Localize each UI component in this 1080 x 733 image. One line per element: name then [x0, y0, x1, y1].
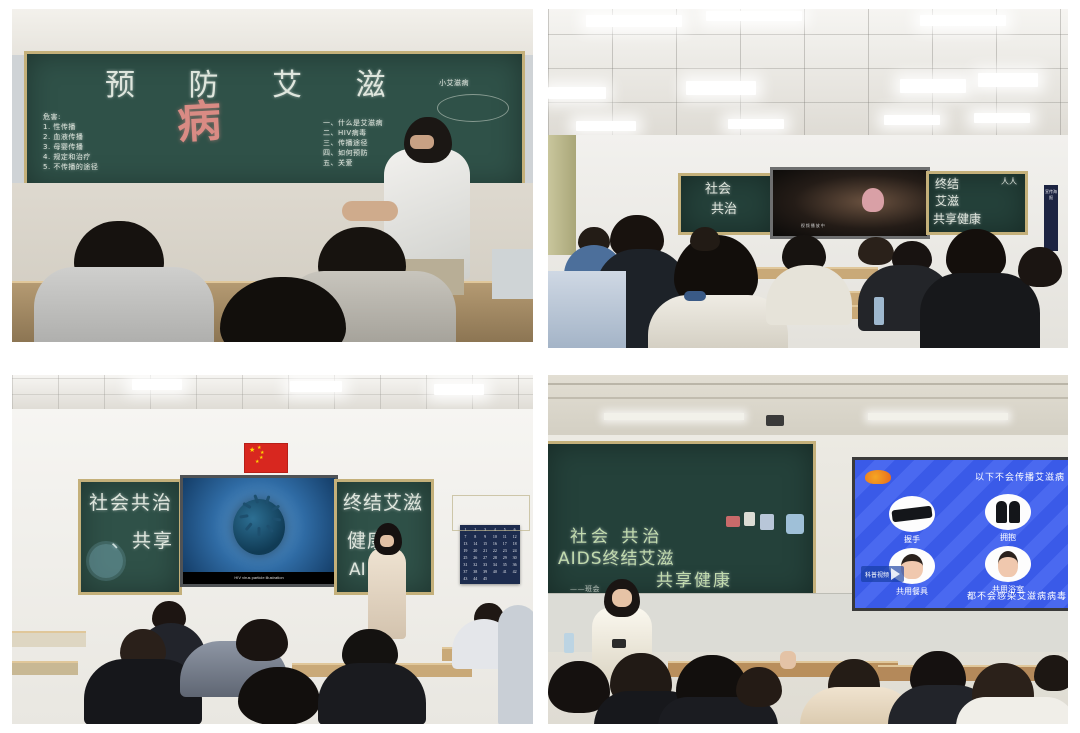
- projector-screen-content: 视频播放中: [773, 170, 927, 236]
- ceiling: [12, 375, 533, 411]
- shared-bathroom-icon: [985, 546, 1031, 582]
- speaker-icon: [766, 415, 784, 426]
- photo-bottom-left[interactable]: ★ ★ ★ ★ ★ 社会共治 、共享: [12, 375, 533, 724]
- tv-caption-text: HIV virus particle illustration: [183, 572, 335, 584]
- desk: [12, 661, 78, 675]
- blackboard-left-line: 社会共治: [89, 488, 173, 515]
- play-badge-label: 科普视频: [865, 570, 889, 579]
- tv-screen[interactable]: HIV virus particle illustration: [180, 475, 338, 587]
- magnet-icon: [726, 516, 740, 527]
- ceiling-pipe: [548, 383, 1068, 385]
- note-line: 三、传播途径: [323, 138, 383, 148]
- blackboard-right-line: 终结: [935, 175, 959, 192]
- pocket-chart-number: 45: [481, 576, 490, 582]
- chalk-cloud-shape: [437, 94, 509, 122]
- blackboard-left-line: 社会: [705, 178, 731, 197]
- note-line: 一、什么是艾滋病: [323, 118, 383, 128]
- pocket-chart-number: 11: [500, 534, 509, 540]
- pocket-chart-number: 42: [510, 569, 519, 575]
- ceiling-light: [728, 119, 784, 129]
- water-bottle: [874, 297, 884, 325]
- blackboard-right: 终结 艾滋 共享健康 人人: [926, 171, 1028, 235]
- video-subtitle: 视频播放中: [801, 223, 826, 229]
- flag-star: ★: [249, 448, 255, 453]
- blackboard-right-side-text: 人人: [1001, 176, 1017, 187]
- pocket-chart-number: 28: [490, 555, 499, 561]
- ceiling-light: [920, 15, 1006, 26]
- pocket-chart-number: 33: [481, 562, 490, 568]
- virus-particle-icon: [233, 499, 285, 555]
- ceiling-light: [974, 113, 1030, 123]
- pocket-chart-number: 21: [481, 548, 490, 554]
- student-head: [690, 227, 720, 251]
- tv-screen-content: HIV virus particle illustration: [183, 478, 335, 584]
- blackboard-overlay-character: 病: [175, 85, 222, 151]
- ceiling: [548, 375, 1068, 437]
- ceiling-light: [884, 115, 940, 125]
- pocket-chart-number: 19: [461, 548, 470, 554]
- slide-item-label: 拥抱: [977, 532, 1039, 543]
- note-line: 危害:: [43, 112, 98, 122]
- pocket-chart-number: 20: [471, 548, 480, 554]
- pocket-chart-number: 41: [500, 569, 509, 575]
- pocket-chart-number: 16: [490, 541, 499, 547]
- pocket-chart-number: 39: [481, 569, 490, 575]
- blackboard-left-notes: 危害: 1. 性传播 2. 血液传播 3. 母婴传播 4. 规定和治疗 5. 不…: [43, 112, 98, 172]
- handshake-icon: [889, 496, 935, 532]
- slide-title: 以下不会传播艾滋病: [975, 470, 1065, 483]
- note-line: 5. 不传播的途径: [43, 162, 98, 172]
- pocket-chart-number: 31: [461, 562, 470, 568]
- student-body: [920, 273, 1040, 348]
- pocket-chart-number: 38: [471, 569, 480, 575]
- student-head: [1034, 655, 1068, 691]
- video-still: [773, 170, 927, 236]
- hair-tie: [684, 291, 706, 301]
- teacher-face: [410, 135, 434, 149]
- slide-item-bathroom: 共用浴室: [977, 546, 1039, 595]
- window-curtain: [548, 135, 576, 255]
- wall-banner-text: 宣传海报: [1044, 185, 1058, 201]
- pocket-chart-number: 18: [510, 541, 519, 547]
- blackboard: 社会 共治 AIDS终结艾滋 共享健康 ——班会: [548, 441, 816, 599]
- blackboard-right-line: AI: [349, 560, 366, 580]
- flag-star: ★: [259, 456, 263, 461]
- ceiling-light: [978, 73, 1038, 87]
- pocket-chart-number: 30: [510, 555, 519, 561]
- pocket-chart-number: 40: [490, 569, 499, 575]
- student-body: [34, 267, 214, 342]
- slide-item-label: 握手: [881, 534, 943, 545]
- blackboard-left: 社会共治 、共享: [78, 479, 182, 595]
- wall-upper: [12, 9, 533, 55]
- photo-bottom-right[interactable]: 社会 共治 AIDS终结艾滋 共享健康 ——班会 以下不会传播艾滋病: [548, 375, 1068, 724]
- pocket-chart-number: 24: [510, 548, 519, 554]
- note-line: 2. 血液传播: [43, 132, 98, 142]
- pocket-chart-number: 8: [471, 534, 480, 540]
- slide-item-hug: 拥抱: [977, 494, 1039, 543]
- magnet-icon: [744, 512, 755, 526]
- pocket-chart-number: 37: [461, 569, 470, 575]
- note-line: 1. 性传播: [43, 122, 98, 132]
- pocket-chart-number: 32: [471, 562, 480, 568]
- pocket-chart-number: 27: [481, 555, 490, 561]
- ceiling-light: [868, 413, 1008, 420]
- projector-screen: 视频播放中: [770, 167, 930, 239]
- blackboard-left-line: 共治: [711, 198, 737, 217]
- presenter-phone: [612, 639, 626, 648]
- numbered-pocket-chart: 1234567891011121314151617181920212223242…: [460, 525, 520, 584]
- student-body: [318, 663, 426, 724]
- ceiling-pipe: [548, 397, 1068, 399]
- blackboard-left-line: 、共享: [111, 526, 174, 553]
- ceiling-light: [706, 11, 802, 21]
- slide-item-label: 共用餐具: [881, 586, 943, 597]
- student-head: [236, 619, 288, 661]
- pocket-chart-number: 34: [490, 562, 499, 568]
- slide-content: 以下不会传播艾滋病 握手 拥抱: [855, 460, 1068, 608]
- pocket-chart-number: 14: [471, 541, 480, 547]
- pocket-chart-number: 26: [471, 555, 480, 561]
- pocket-chart-number: 43: [461, 576, 470, 582]
- chalk-virus-drawing: [89, 544, 123, 578]
- student-head: [736, 667, 782, 707]
- slide-footer: 都不会感染艾滋病病毒: [967, 589, 1067, 602]
- photo-top-left[interactable]: 预 防 艾 滋 病 危害: 1. 性传播 2. 血液传播 3. 母婴传播 4. …: [12, 9, 533, 342]
- pocket-chart-number: 13: [461, 541, 470, 547]
- note-line: 4. 规定和治疗: [43, 152, 98, 162]
- play-video-badge[interactable]: 科普视频: [861, 566, 904, 582]
- blackboard-line: 共享健康: [656, 566, 732, 591]
- photo-top-right[interactable]: 社会 共治 视频播放中 终结 艾滋 共享健康 人人 宣传海报: [548, 9, 1068, 348]
- ceiling-light: [548, 87, 606, 99]
- student-side: [492, 249, 533, 299]
- pocket-chart-number: 17: [500, 541, 509, 547]
- pocket-chart-number: 15: [481, 541, 490, 547]
- note-line: 四、如何预防: [323, 148, 383, 158]
- photo-collage: 预 防 艾 滋 病 危害: 1. 性传播 2. 血液传播 3. 母婴传播 4. …: [0, 0, 1080, 733]
- pocket-chart-number: 36: [510, 562, 519, 568]
- magnet-icon: [760, 514, 774, 530]
- slide-screen[interactable]: 以下不会传播艾滋病 握手 拥抱: [852, 457, 1068, 611]
- water-bottle: [564, 633, 574, 653]
- blackboard-right-line: 终结艾滋: [343, 488, 423, 515]
- ceiling-light: [586, 15, 682, 27]
- wall-frame-decor: [452, 495, 530, 531]
- magnet-icon: [786, 514, 804, 534]
- pocket-chart-number: 23: [500, 548, 509, 554]
- blackboard-title: 预 防 艾 滋: [105, 60, 408, 104]
- tv-caption-bar: HIV virus particle illustration: [183, 572, 335, 584]
- ceiling-light: [576, 121, 636, 131]
- chinese-flag: ★ ★ ★ ★ ★: [244, 443, 288, 473]
- pocket-chart-number: 9: [481, 534, 490, 540]
- blackboard-right-notes: 一、什么是艾滋病 二、HIV病毒 三、传播途径 四、如何预防 五、关爱: [323, 118, 383, 168]
- student-body: [498, 605, 533, 724]
- ceiling-light: [604, 413, 744, 420]
- blackboard-corner-note: 小艾滋病: [439, 78, 469, 88]
- presenter-face: [380, 535, 394, 547]
- ceiling-light: [686, 81, 756, 95]
- blackboard-right-line: 共享健康: [933, 210, 981, 227]
- ceiling-light: [434, 384, 484, 395]
- hug-icon: [985, 494, 1031, 530]
- student-jacket: [548, 271, 626, 348]
- ceiling-light: [132, 379, 182, 390]
- presenter-face: [612, 589, 632, 607]
- note-line: 二、HIV病毒: [323, 128, 383, 138]
- student-head: [858, 237, 894, 265]
- ceiling: [548, 9, 1068, 137]
- student-head: [1018, 247, 1062, 287]
- pocket-chart-number: 35: [500, 562, 509, 568]
- teacher-hands: [342, 201, 398, 221]
- presenter-body: [368, 547, 406, 639]
- health-logo-icon: [865, 470, 891, 484]
- pocket-chart-number: 22: [490, 548, 499, 554]
- pocket-chart-number: 10: [490, 534, 499, 540]
- pocket-chart-number: 44: [471, 576, 480, 582]
- blackboard-right-line: 艾滋: [935, 192, 959, 209]
- blackboard-left: 社会 共治: [678, 173, 776, 235]
- pocket-chart-number: 12: [510, 534, 519, 540]
- pocket-chart-number: 29: [500, 555, 509, 561]
- pocket-chart-number: 7: [461, 534, 470, 540]
- ceiling-light: [900, 79, 966, 93]
- video-subject: [862, 188, 884, 212]
- slide-item-handshake: 握手: [881, 496, 943, 545]
- play-icon: [891, 568, 900, 580]
- pocket-chart-number: 25: [461, 555, 470, 561]
- student-body: [956, 697, 1068, 724]
- flag-star: ★: [255, 460, 259, 465]
- desk: [12, 631, 86, 647]
- note-line: 五、关爱: [323, 158, 383, 168]
- wall-banner: 宣传海报: [1044, 185, 1058, 251]
- student-raised-hand: [780, 651, 796, 669]
- ceiling-light: [290, 381, 342, 392]
- note-line: 3. 母婴传播: [43, 142, 98, 152]
- student-head-front: [238, 667, 320, 724]
